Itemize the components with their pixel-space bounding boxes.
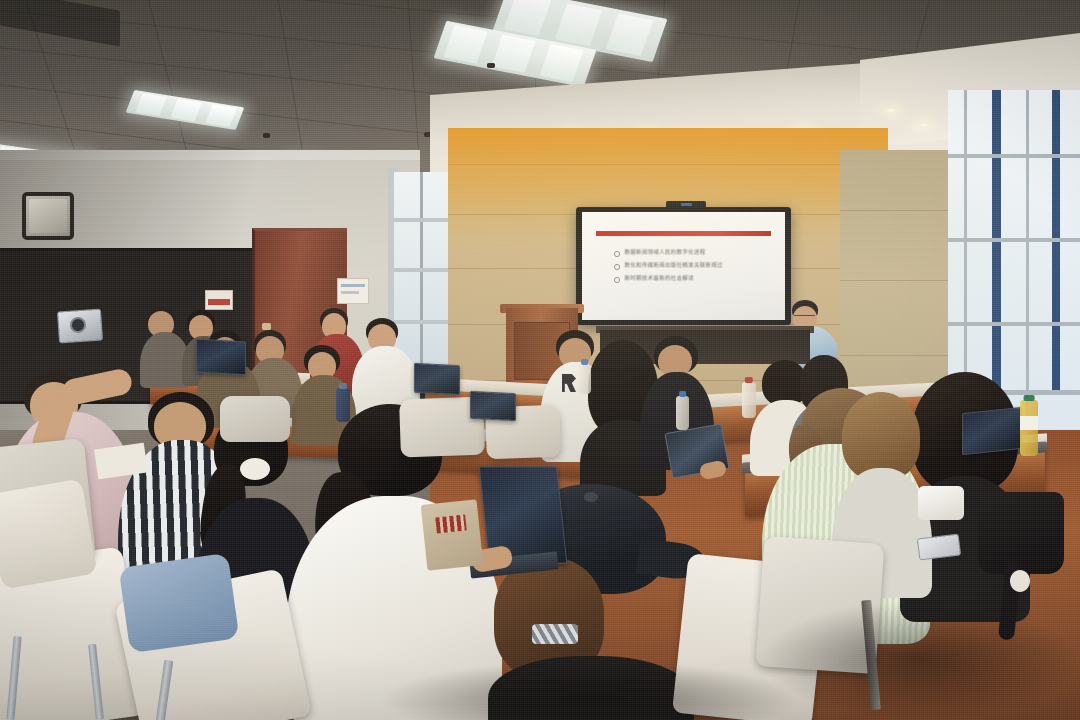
backpack[interactable] [978, 492, 1064, 574]
tissue-pack [918, 486, 964, 520]
laptop[interactable] [414, 363, 460, 395]
wall-sign-poster [337, 278, 369, 304]
slide-content: 数据新闻领域人民的数字化进程 数化和传媒新闻出版社精准关联新规过 新时期技术最新… [582, 212, 785, 320]
ceiling-sensor [487, 63, 495, 68]
clothing-on-chair [119, 553, 240, 653]
floor-shadow [760, 600, 1080, 720]
water-bottle[interactable] [578, 364, 591, 394]
lecture-hall-photo: 数据新闻领域人民的数字化进程 数化和传媒新闻出版社精准关联新规过 新时期技术最新… [0, 0, 1080, 720]
slide-bullet: 数据新闻领域人民的数字化进程 [614, 251, 772, 257]
slide-bullet: 新时期技术最新的社会解读 [614, 277, 772, 283]
laptop[interactable] [196, 339, 246, 376]
water-bottle[interactable] [336, 388, 350, 422]
slide-accent-bar [596, 231, 771, 236]
wall-sign-notice [205, 290, 233, 310]
coat-on-chair [0, 478, 98, 589]
glasses-icon [794, 315, 815, 320]
bottle-cap [339, 383, 347, 389]
bullet-dot-icon [614, 277, 620, 283]
bullet-dot-icon [614, 251, 620, 257]
cap-button [584, 492, 598, 502]
hair-clip [532, 624, 578, 644]
slide-bullet-list: 数据新闻领域人民的数字化进程 数化和传媒新闻出版社精准关联新规过 新时期技术最新… [614, 251, 772, 290]
slide-bullet-text: 新时期技术最新的社会解读 [624, 277, 694, 282]
bottle-cap [679, 391, 687, 397]
bottle-label [1020, 416, 1038, 430]
scrunchie [240, 458, 270, 480]
bag-charm [1010, 570, 1030, 592]
wall-clock [22, 192, 74, 240]
chair[interactable] [220, 396, 290, 442]
downlight [883, 107, 900, 114]
laptop[interactable] [470, 391, 516, 421]
door-knob[interactable] [262, 323, 271, 330]
bottle-cap [745, 377, 753, 383]
water-bottle[interactable] [676, 396, 689, 430]
tote-bag-logo [435, 514, 467, 533]
bottle-cap [581, 359, 589, 365]
slide-bullet-text: 数据新闻领域人民的数字化进程 [624, 251, 705, 256]
bottle-cap [1024, 395, 1035, 401]
camera-led-indicator [681, 203, 692, 206]
water-bottle[interactable] [742, 382, 756, 418]
floor-shadow [380, 660, 800, 720]
water-bottle[interactable] [1020, 400, 1038, 456]
downlight [916, 122, 932, 128]
slide-bullet: 数化和传媒新闻出版社精准关联新规过 [614, 264, 772, 270]
tote-bag[interactable] [421, 499, 484, 570]
presentation-screen[interactable]: 数据新闻领域人民的数字化进程 数化和传媒新闻出版社精准关联新规过 新时期技术最新… [576, 207, 791, 325]
ceiling-sensor [263, 133, 270, 138]
laptop[interactable] [962, 407, 1022, 455]
camera-lens-icon [70, 317, 86, 333]
slide-bullet-text: 数化和传媒新闻出版社精准关联新规过 [624, 264, 722, 269]
bullet-dot-icon [614, 264, 620, 270]
